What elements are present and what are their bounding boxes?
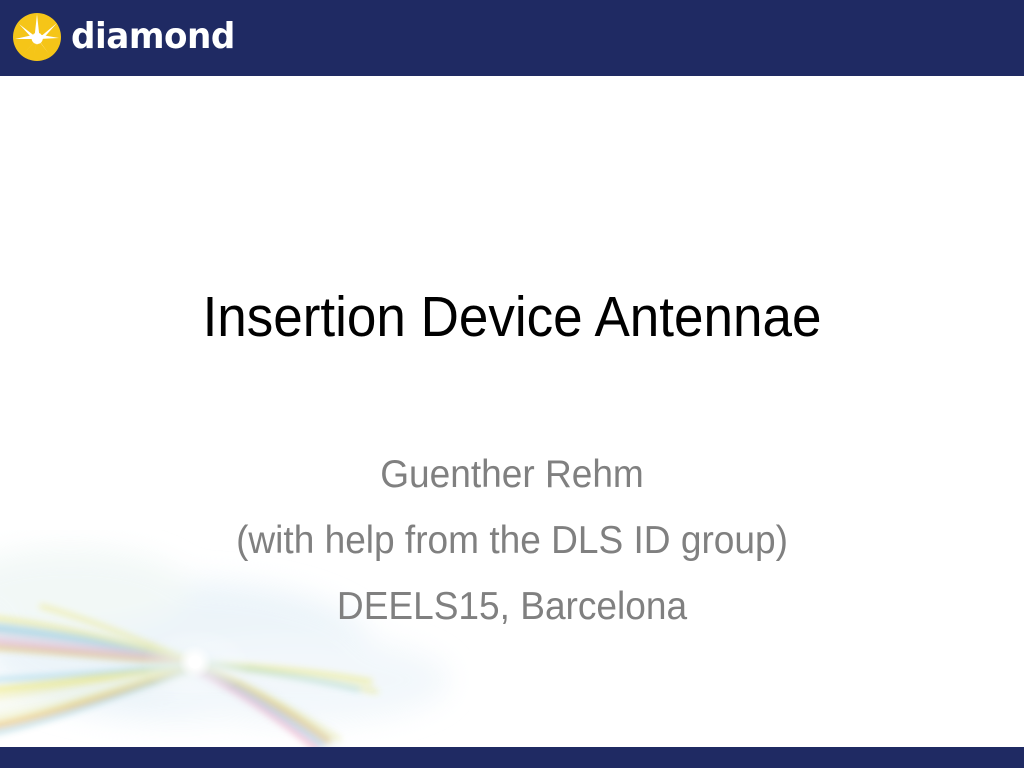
subtitle-line-credit: (with help from the DLS ID group) bbox=[26, 508, 999, 574]
presentation-slide: diamond bbox=[0, 0, 1024, 768]
diamond-wordmark: diamond bbox=[71, 19, 235, 55]
starburst-icon bbox=[12, 12, 62, 62]
subtitle-line-event: DEELS15, Barcelona bbox=[26, 574, 999, 640]
top-banner: diamond bbox=[0, 0, 1024, 76]
bottom-banner bbox=[0, 747, 1024, 768]
slide-content: Insertion Device Antennae Guenther Rehm … bbox=[0, 76, 1024, 747]
diamond-logo: diamond bbox=[12, 6, 244, 68]
subtitle-line-author: Guenther Rehm bbox=[26, 442, 999, 508]
page-title: Insertion Device Antennae bbox=[36, 288, 988, 348]
slide-subtitle: Guenther Rehm (with help from the DLS ID… bbox=[0, 442, 1024, 640]
